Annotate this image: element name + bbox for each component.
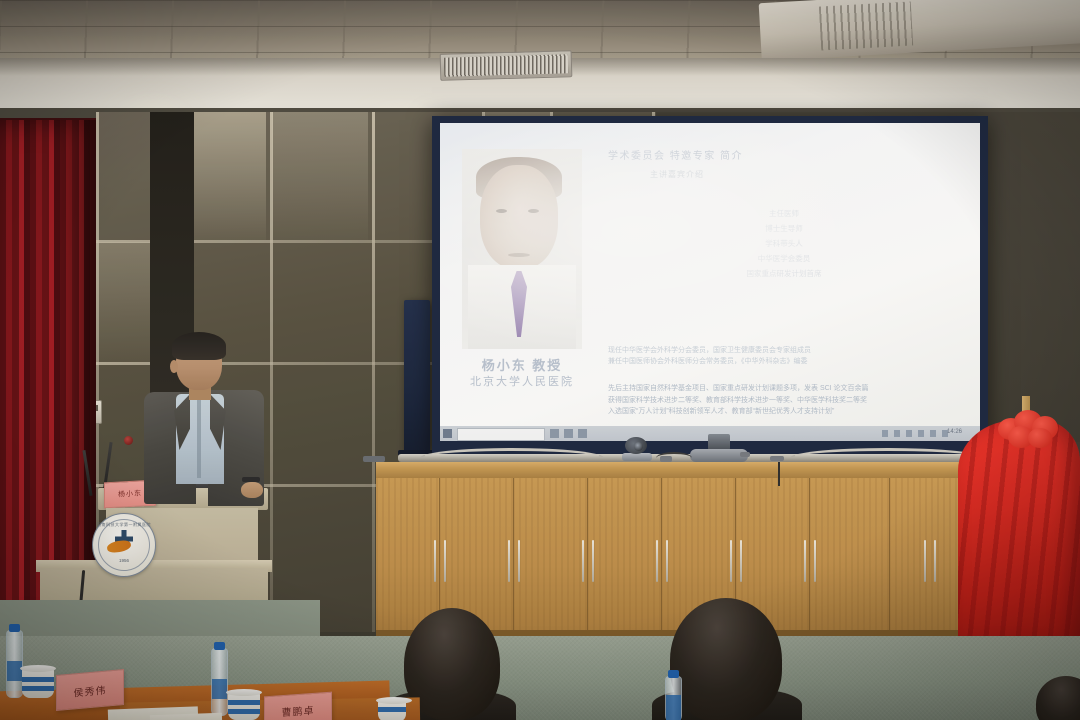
cup-stripe-1a <box>22 677 54 682</box>
cabinet-door-7[interactable] <box>809 478 890 638</box>
red-stage-curtain <box>0 120 96 630</box>
cabinet-handle-8[interactable] <box>666 540 668 582</box>
tray-icon-2[interactable] <box>894 430 900 437</box>
slide-mid-line-0: 主任医师 <box>608 206 960 221</box>
camera-head <box>625 437 647 454</box>
slide-caption-name: 杨小东 教授 <box>454 355 590 374</box>
cup-stripe-2a <box>228 700 260 705</box>
slide-title: 学术委员会 特邀专家 简介 <box>608 147 960 162</box>
taskbar-app-icon-2[interactable] <box>564 429 573 438</box>
slide-mid-line-2: 学科带头人 <box>608 236 960 251</box>
presenter-hair <box>172 332 226 360</box>
cup-rim-3 <box>376 697 412 704</box>
cable-adapter <box>660 456 672 462</box>
handheld-microphone-icon <box>124 436 133 445</box>
taskbar-clock[interactable]: 14:26 <box>947 429 962 435</box>
presenter-hand <box>241 482 263 498</box>
emblem-arc-text: 河南科技大学第一附属医院 <box>93 522 155 528</box>
cabinet-handle-6[interactable] <box>592 540 594 582</box>
red-ribbon-rosette <box>998 410 1060 450</box>
slide-mid-line-4: 国家重点研发计划首席 <box>608 266 960 281</box>
slide-text-body: 学术委员会 特邀专家 简介 主讲嘉宾介绍 主任医师 博士生导师 学科带头人 中华… <box>608 147 960 281</box>
taskbar-app-icon-1[interactable] <box>550 429 559 438</box>
ptz-conference-camera <box>622 437 652 461</box>
taskbar-search-input[interactable] <box>457 428 545 441</box>
slide-caption-org: 北京大学人民医院 <box>454 373 590 389</box>
cabinet-handle-3[interactable] <box>508 540 510 582</box>
cabinet-handle-12[interactable] <box>814 540 816 582</box>
table-name-card-2: 曹鹏卓 <box>264 692 332 720</box>
projection-screen: 杨小东 教授 北京大学人民医院 学术委员会 特邀专家 简介 主讲嘉宾介绍 主任医… <box>440 123 980 441</box>
portrait-eye-left <box>496 209 507 213</box>
water-bottle-1[interactable] <box>6 630 23 698</box>
taskbar-app-icon-3[interactable] <box>578 429 587 438</box>
projection-screen-frame: 杨小东 教授 北京大学人民医院 学术委员会 特邀专家 简介 主讲嘉宾介绍 主任医… <box>432 116 988 456</box>
slide-foot-line-2: 入选国家“万人计划”科技创新领军人才、教育部“新世纪优秀人才支持计划” <box>608 406 960 418</box>
windows-start-icon[interactable] <box>443 429 452 438</box>
slide-portrait-photo <box>462 149 582 349</box>
slide-low-line-0: 现任中华医学会外科学分会委员，国家卫生健康委员会专家组成员 <box>608 345 960 356</box>
cabinet-handle-2[interactable] <box>444 540 446 582</box>
bottle-cap-1 <box>9 624 20 632</box>
bottle-label-1 <box>7 661 22 681</box>
portrait-eye-right <box>528 209 539 213</box>
cabinet-handle-9[interactable] <box>730 540 732 582</box>
tray-icon-1[interactable] <box>882 430 888 437</box>
cabinet-door-3[interactable] <box>513 478 588 638</box>
conference-hall-photo: 杨小东 教授 北京大学人民医院 学术委员会 特邀专家 简介 主讲嘉宾介绍 主任医… <box>0 0 1080 720</box>
cup-stripe-3a <box>378 707 406 712</box>
camera-base <box>622 453 652 461</box>
slide-subtitle: 主讲嘉宾介绍 <box>608 169 960 180</box>
slide-foot-line-0: 先后主持国家自然科学基金项目、国家重点研发计划课题多项，发表 SCI 论文百余篇 <box>608 383 960 395</box>
cup-rim-2 <box>226 689 262 696</box>
slide-low-line-1: 兼任中国医师协会外科医师分会常务委员，《中华外科杂志》编委 <box>608 356 960 367</box>
cabinet-countertop <box>376 462 996 478</box>
tray-icon-4[interactable] <box>918 430 924 437</box>
cabinet-handle-7[interactable] <box>656 540 658 582</box>
cabinet-handle-10[interactable] <box>740 540 742 582</box>
bottle-cap-3 <box>668 670 679 678</box>
cabinet-handle-14[interactable] <box>934 540 936 582</box>
water-bottle-3[interactable] <box>665 676 682 720</box>
cup-stripe-1b <box>22 686 54 691</box>
presenter-shirt-placket <box>197 398 201 478</box>
presenter-person <box>146 336 262 506</box>
paper-cup-1[interactable] <box>22 668 54 698</box>
bottle-label-2 <box>212 679 227 699</box>
slide-foot-text: 先后主持国家自然科学基金项目、国家重点研发计划课题多项，发表 SCI 论文百余篇… <box>608 383 960 418</box>
presenter-ear <box>170 360 178 373</box>
counter-remote <box>770 456 784 461</box>
counter-device-left <box>363 456 385 462</box>
cup-stripe-2b <box>228 709 260 714</box>
air-vent-grille-icon <box>440 50 573 81</box>
cup-rim-1 <box>20 665 56 672</box>
camera-lens-icon <box>634 442 643 451</box>
portrait-mouth <box>508 253 530 257</box>
cabinet-door-4[interactable] <box>587 478 662 638</box>
tray-icon-3[interactable] <box>906 430 912 437</box>
slide-low-text: 现任中华医学会外科学分会委员，国家卫生健康委员会专家组成员 兼任中国医师协会外科… <box>608 345 960 367</box>
conference-speakerphone <box>690 434 748 462</box>
cabinet-handle-13[interactable] <box>924 540 926 582</box>
counter-device-small <box>740 452 750 457</box>
hospital-emblem-logo: 河南科技大学第一附属医院 1956 <box>92 513 156 577</box>
hvac-duct-seam <box>819 1 913 50</box>
tray-network-icon[interactable] <box>930 430 936 437</box>
emblem-year: 1956 <box>93 558 155 563</box>
water-bottle-2[interactable] <box>211 648 228 716</box>
cabinet-handle-11[interactable] <box>804 540 806 582</box>
bottle-cap-2 <box>214 642 225 650</box>
paper-cup-2[interactable] <box>228 692 260 720</box>
slide-mid-line-3: 中华医学会委员 <box>608 251 960 266</box>
cabinet-handle-5[interactable] <box>582 540 584 582</box>
audience-2-head <box>670 598 782 720</box>
cabinet-handle-1[interactable] <box>434 540 436 582</box>
red-silk-unveiling-drape <box>958 420 1080 650</box>
table-name-card-1: 侯秀伟 <box>56 669 124 711</box>
hanging-cable <box>778 462 788 486</box>
slide-foot-line-1: 获得国家科学技术进步二等奖、教育部科学技术进步一等奖、中华医学科技奖二等奖 <box>608 395 960 407</box>
loudspeaker-column <box>404 300 430 452</box>
slide-mid-line-1: 博士生导师 <box>608 221 960 236</box>
cabinet-handle-4[interactable] <box>518 540 520 582</box>
rosette-petal-5 <box>1028 428 1052 448</box>
speakerphone-riser <box>708 434 730 450</box>
bottle-label-3 <box>666 695 681 720</box>
paper-cup-3[interactable] <box>378 700 406 720</box>
